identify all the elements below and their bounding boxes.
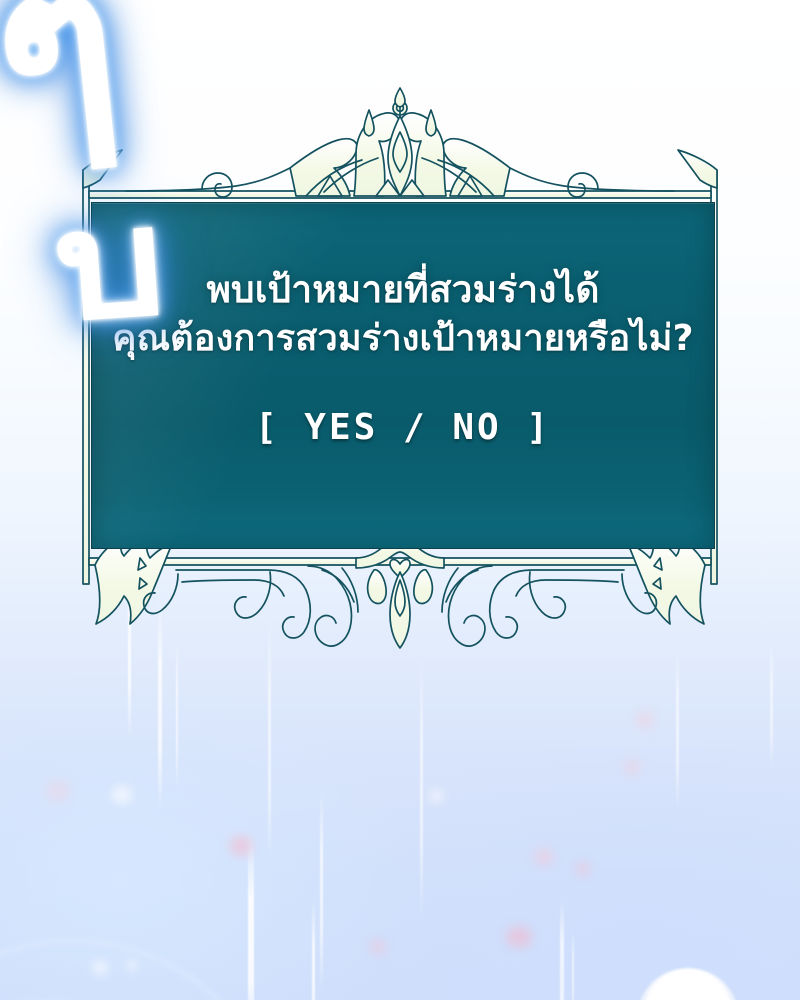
bokeh-dot (126, 960, 138, 971)
glow-orb (636, 968, 740, 1000)
message-line-1: พบเป้าหมายที่สวมร่างได้ (92, 265, 714, 315)
bottom-flourish-left (144, 570, 311, 638)
light-streak (572, 930, 574, 1000)
light-streak (268, 620, 271, 860)
light-streak (320, 790, 323, 990)
panel-message: พบเป้าหมายที่สวมร่างได้ คุณต้องการสวมร่า… (92, 265, 714, 363)
message-line-2: คุณต้องการสวมร่างเป้าหมายหรือไม่? (92, 315, 714, 363)
bottom-flourish-right (490, 570, 657, 638)
light-arc (0, 940, 284, 1000)
corner-spike-top-left (83, 150, 122, 188)
light-streak (560, 900, 564, 1000)
bottom-flourish-left-scroll (308, 566, 358, 646)
light-streak (248, 836, 254, 1000)
bokeh-dot (370, 940, 386, 954)
bokeh-dot (534, 848, 554, 866)
system-dialogue-panel: พบเป้าหมายที่สวมร่างได้ คุณต้องการสวมร่า… (92, 203, 714, 548)
bottom-flourish-center (356, 534, 444, 648)
light-streak (770, 640, 773, 770)
corner-spike-top-right (678, 150, 717, 188)
bokeh-dot (46, 780, 70, 802)
bottom-flourish-right-scroll (442, 566, 492, 646)
frame-left-rail (83, 170, 89, 584)
bokeh-dot (230, 836, 252, 856)
bokeh-dot (112, 786, 132, 804)
light-streak (312, 900, 315, 1000)
comic-page: พบเป้าหมายที่สวมร่างได้ คุณต้องการสวมร่า… (0, 0, 800, 1000)
bokeh-dot (430, 790, 443, 802)
light-streak (420, 660, 423, 920)
yes-no-choice[interactable]: [ YES / NO ] (255, 407, 551, 448)
bokeh-dot (506, 926, 532, 948)
bokeh-dot (624, 760, 640, 775)
light-streak (176, 640, 178, 790)
light-streak (676, 650, 679, 810)
bokeh-dot (576, 862, 590, 876)
bokeh-dot (92, 960, 108, 975)
crown-ornament (290, 88, 510, 196)
bokeh-dot (636, 712, 654, 728)
